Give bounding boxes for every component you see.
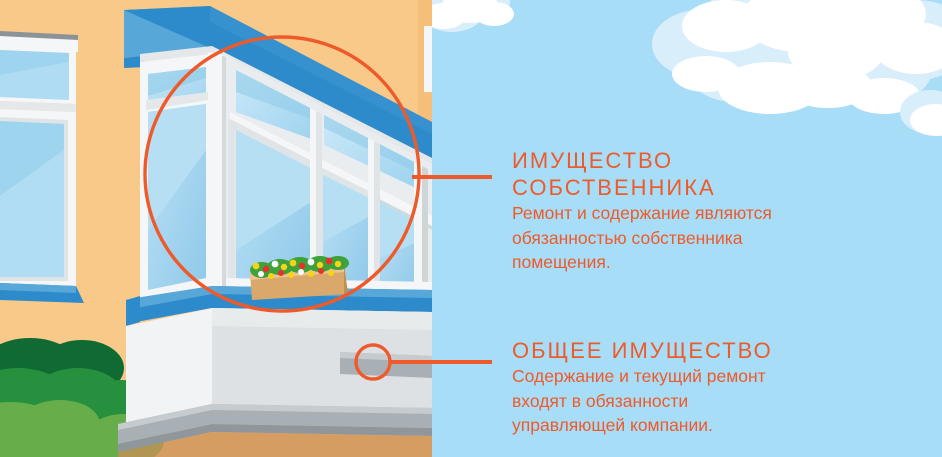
callout-owner-title: ИМУЩЕСТВО СОБСТВЕННИКА — [512, 147, 772, 201]
callout-common: ОБЩЕЕ ИМУЩЕСТВО Содержание и текущий рем… — [512, 337, 773, 438]
callout-owner-body: Ремонт и содержание являются обязанность… — [512, 201, 772, 275]
callout-common-body: Содержание и текущий ремонт входят в обя… — [512, 364, 773, 438]
callout-common-title: ОБЩЕЕ ИМУЩЕСТВО — [512, 337, 773, 364]
callout-owner: ИМУЩЕСТВО СОБСТВЕННИКА Ремонт и содержан… — [512, 147, 772, 275]
callout-text-layer: ИМУЩЕСТВО СОБСТВЕННИКА Ремонт и содержан… — [0, 0, 942, 457]
infographic-canvas: ИМУЩЕСТВО СОБСТВЕННИКА Ремонт и содержан… — [0, 0, 942, 457]
